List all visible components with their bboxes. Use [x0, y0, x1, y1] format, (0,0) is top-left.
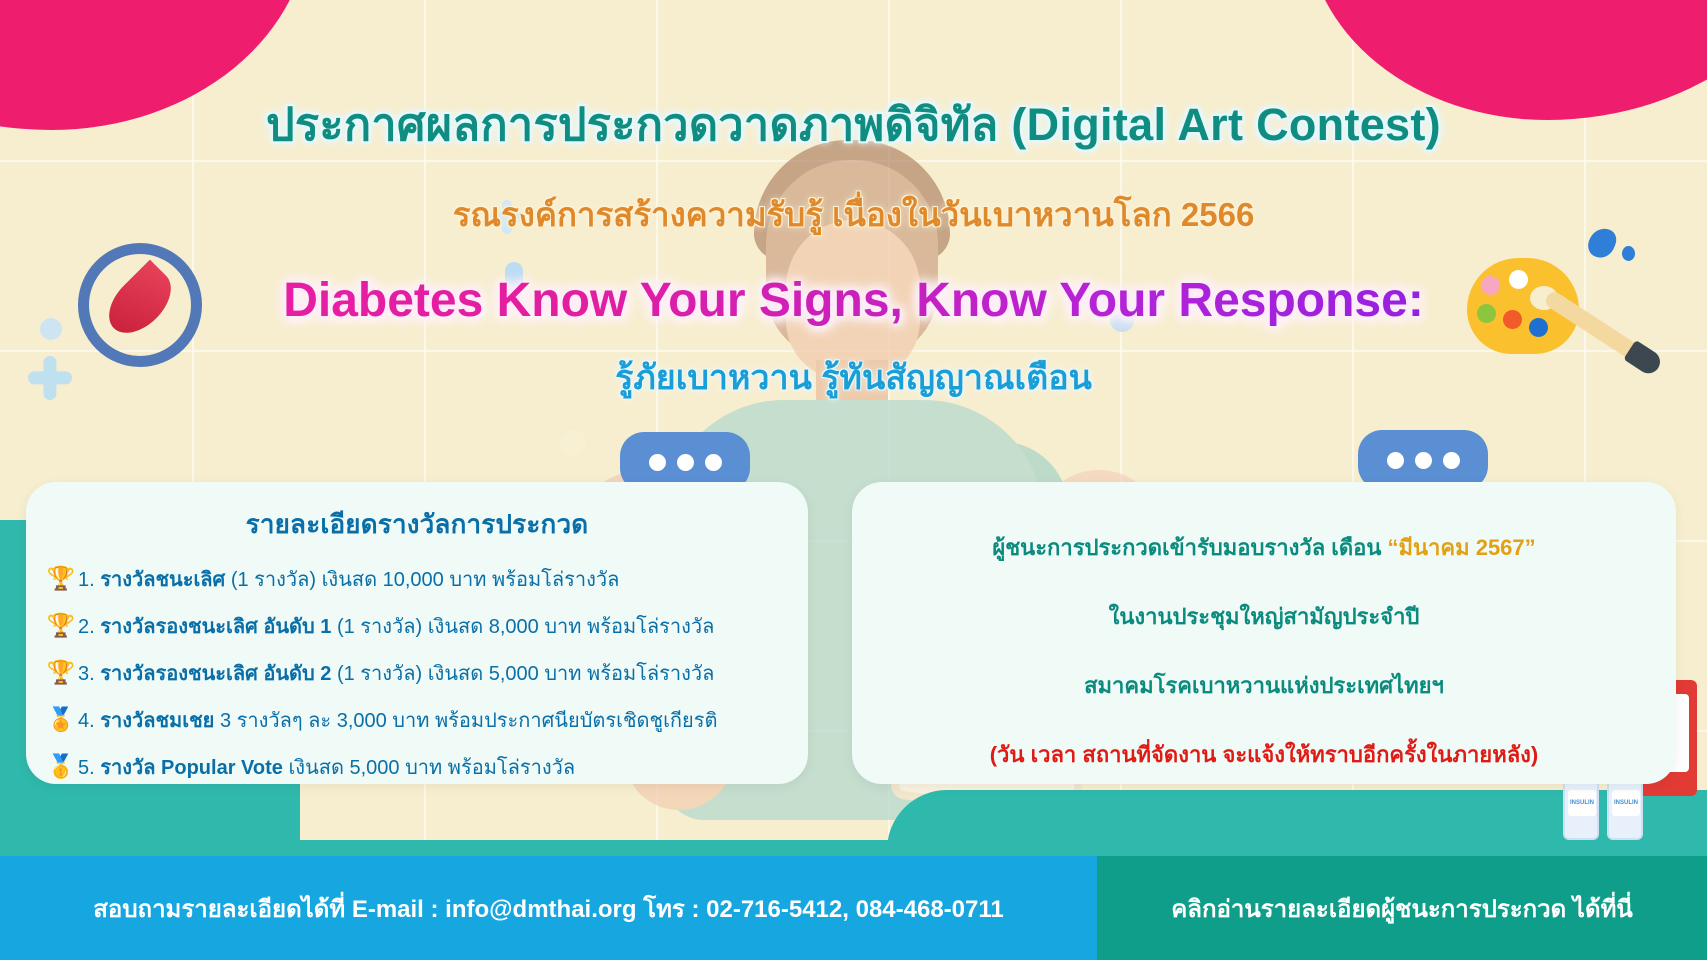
ceremony-organization-line: สมาคมโรคเบาหวานแห่งประเทศไทยฯ	[852, 668, 1676, 703]
prize-number: 1.	[78, 569, 95, 591]
trophy-bronze-icon: 🏆	[44, 659, 78, 686]
deco-dot	[560, 430, 586, 456]
footer-contact-text: สอบถามรายละเอียดได้ที่ E-mail : info@dmt…	[93, 889, 1003, 928]
trophy-silver-icon: 🏆	[44, 612, 78, 639]
prize-details-card: รายละเอียดรางวัลการประกวด 🏆 1. รางวัลชนะ…	[26, 482, 808, 784]
prize-number: 4.	[78, 710, 95, 732]
prize-detail: เงินสด 5,000 บาท พร้อมโล่รางวัล	[288, 757, 575, 779]
prize-number: 5.	[78, 757, 95, 779]
headline-thai: ประกาศผลการประกวดวาดภาพดิจิทัล (Digital …	[0, 88, 1707, 160]
prize-detail: (1 รางวัล) เงินสด 5,000 บาท พร้อมโล่รางว…	[337, 663, 714, 685]
prize-name: รางวัลรองชนะเลิศ อันดับ 2	[100, 663, 331, 685]
list-item: 🏆 3. รางวัลรองชนะเลิศ อันดับ 2 (1 รางวัล…	[38, 649, 808, 696]
prize-number: 2.	[78, 616, 95, 638]
speech-bubble-right	[1358, 430, 1488, 490]
award-ceremony-card: ผู้ชนะการประกวดเข้ารับมอบรางวัล เดือน “ม…	[852, 482, 1676, 784]
ceremony-month-prefix: ผู้ชนะการประกวดเข้ารับมอบรางวัล เดือน	[992, 535, 1387, 560]
list-item: 🏆 1. รางวัลชนะเลิศ (1 รางวัล) เงินสด 10,…	[38, 555, 808, 602]
ceremony-event-line: ในงานประชุมใหญ่สามัญประจำปี	[852, 599, 1676, 634]
ceremony-month-highlight: “มีนาคม 2567”	[1387, 535, 1535, 560]
poster-heading-block: ประกาศผลการประกวดวาดภาพดิจิทัล (Digital …	[0, 88, 1707, 404]
ceremony-note-line: (วัน เวลา สถานที่จัดงาน จะแจ้งให้ทราบอีก…	[852, 737, 1676, 772]
footer-contact-bar: สอบถามรายละเอียดได้ที่ E-mail : info@dmt…	[0, 856, 1097, 960]
list-item: 🏅 4. รางวัลชมเชย 3 รางวัลๆ ละ 3,000 บาท …	[38, 696, 808, 743]
trophy-gold-icon: 🏆	[44, 565, 78, 592]
subheadline-thai: รณรงค์การสร้างความรับรู้ เนื่องในวันเบาห…	[0, 188, 1707, 241]
prize-name: รางวัลชมเชย	[100, 710, 214, 732]
headline-thai-translation: รู้ภัยเบาหวาน รู้ทันสัญญาณเตือน	[0, 350, 1707, 404]
prize-number: 3.	[78, 663, 95, 685]
footer-link-bar[interactable]: คลิกอ่านรายละเอียดผู้ชนะการประกวด ได้ที่…	[1097, 856, 1707, 960]
medal-icon: 🥇	[44, 753, 78, 780]
prize-details-title: รายละเอียดรางวัลการประกวด	[26, 482, 808, 545]
headline-english: Diabetes Know Your Signs, Know Your Resp…	[0, 273, 1707, 328]
list-item: 🏆 2. รางวัลรองชนะเลิศ อันดับ 1 (1 รางวัล…	[38, 602, 808, 649]
prize-detail: 3 รางวัลๆ ละ 3,000 บาท พร้อมประกาศนียบัต…	[220, 710, 718, 732]
prize-detail: (1 รางวัล) เงินสด 10,000 บาท พร้อมโล่ราง…	[231, 569, 620, 591]
prize-name: รางวัลชนะเลิศ	[100, 569, 225, 591]
footer-link-text[interactable]: คลิกอ่านรายละเอียดผู้ชนะการประกวด ได้ที่…	[1171, 889, 1633, 928]
list-item: 🥇 5. รางวัล Popular Vote เงินสด 5,000 บา…	[38, 743, 808, 790]
prize-detail: (1 รางวัล) เงินสด 8,000 บาท พร้อมโล่รางว…	[337, 616, 714, 638]
ceremony-month-line: ผู้ชนะการประกวดเข้ารับมอบรางวัล เดือน “ม…	[852, 530, 1676, 565]
rosette-icon: 🏅	[44, 706, 78, 733]
prize-name: รางวัล Popular Vote	[100, 757, 283, 779]
prize-list: 🏆 1. รางวัลชนะเลิศ (1 รางวัล) เงินสด 10,…	[38, 555, 808, 790]
prize-name: รางวัลรองชนะเลิศ อันดับ 1	[100, 616, 331, 638]
poster-canvas: INSULIN INSULIN ประกาศผลการประกวดวาดภาพด…	[0, 0, 1707, 960]
